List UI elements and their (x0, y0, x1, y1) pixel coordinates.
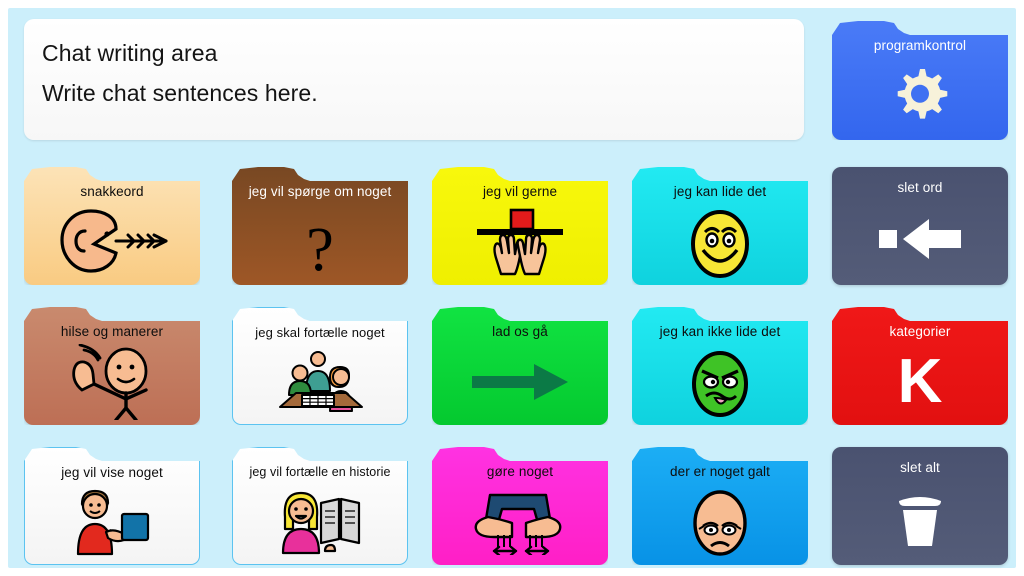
card-label: slet alt (838, 459, 1002, 476)
card-label: gøre noget (438, 463, 602, 480)
card-label: jeg vil gerne (438, 183, 602, 200)
card-jeg-vil-gerne[interactable]: jeg vil gerne (432, 167, 608, 285)
card-jeg-vil-vise-noget[interactable]: jeg vil vise noget (24, 447, 200, 565)
card-label: slet ord (838, 179, 1002, 196)
card-jeg-kan-lide-det[interactable]: jeg kan lide det (632, 167, 808, 285)
card-label: jeg vil fortælle en historie (239, 464, 401, 481)
card-jeg-vil-spoerge-om-noget[interactable]: jeg vil spørge om noget ? (232, 167, 408, 285)
card-label: jeg vil vise noget (31, 464, 193, 481)
person-showing-tablet-icon (25, 484, 199, 560)
people-at-table-icon (233, 344, 407, 420)
chat-writing-area[interactable]: Chat writing area Write chat sentences h… (24, 19, 804, 140)
card-programkontrol[interactable]: programkontrol (832, 21, 1008, 140)
sad-face-icon (632, 483, 808, 561)
card-label: jeg vil spørge om noget (238, 183, 402, 200)
right-arrow-icon (432, 343, 608, 421)
person-with-book-icon (233, 484, 407, 560)
card-hilse-og-manerer[interactable]: hilse og manerer (24, 307, 200, 425)
waving-person-icon (24, 343, 200, 421)
card-label: der er noget galt (638, 463, 802, 480)
happy-face-icon (632, 203, 808, 281)
card-slet-alt[interactable]: slet alt (832, 447, 1008, 565)
communication-board: Chat writing area Write chat sentences h… (8, 8, 1016, 568)
card-jeg-kan-ikke-lide-det[interactable]: jeg kan ikke lide det (632, 307, 808, 425)
card-label: programkontrol (838, 37, 1002, 54)
question-mark-icon: ? (232, 219, 408, 281)
angry-face-icon (632, 343, 808, 421)
card-label: lad os gå (438, 323, 602, 340)
card-label: kategorier (838, 323, 1002, 340)
chat-area-placeholder: Write chat sentences here. (42, 73, 786, 113)
card-snakkeord[interactable]: snakkeord (24, 167, 200, 285)
backspace-icon (832, 197, 1008, 281)
card-label: snakkeord (30, 183, 194, 200)
hands-reaching-for-block-icon (432, 203, 608, 281)
chat-area-title: Chat writing area (42, 33, 786, 73)
card-lad-os-gaa[interactable]: lad os gå (432, 307, 608, 425)
card-goere-noget[interactable]: gøre noget (432, 447, 608, 565)
gear-icon (832, 57, 1008, 136)
card-kategorier[interactable]: kategorier K (832, 307, 1008, 425)
card-jeg-skal-fortaelle-noget[interactable]: jeg skal fortælle noget (232, 307, 408, 425)
card-slet-ord[interactable]: slet ord (832, 167, 1008, 285)
talking-head-icon (24, 203, 200, 281)
card-label: jeg kan lide det (638, 183, 802, 200)
card-der-er-noget-galt[interactable]: der er noget galt (632, 447, 808, 565)
card-label: jeg kan ikke lide det (638, 323, 802, 340)
card-label: jeg skal fortælle noget (239, 324, 401, 341)
card-label: hilse og manerer (30, 323, 194, 340)
card-jeg-vil-fortaelle-en-historie[interactable]: jeg vil fortælle en historie (232, 447, 408, 565)
hands-doing-icon (432, 483, 608, 561)
trash-can-icon (832, 477, 1008, 561)
letter-k-icon: K (832, 343, 1008, 421)
